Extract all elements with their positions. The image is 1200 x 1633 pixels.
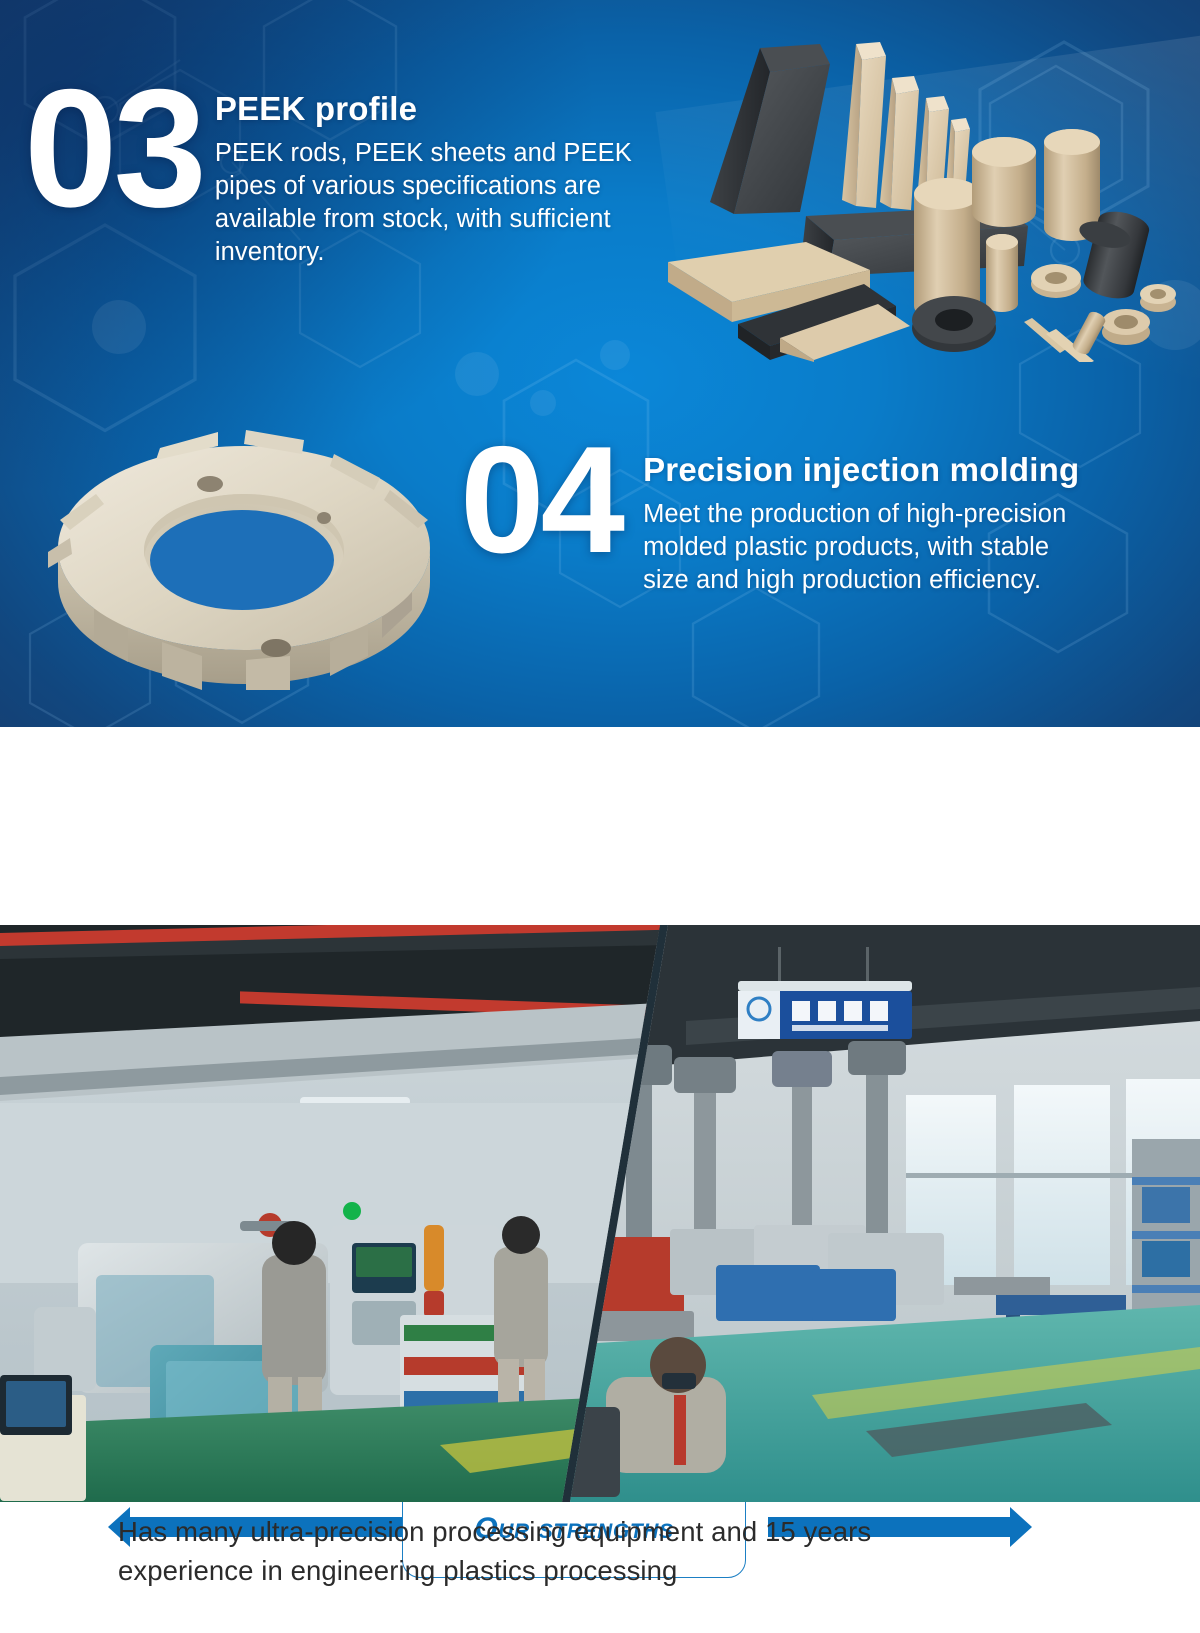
hero-section: 03 PEEK profile PEEK rods, PEEK sheets a… xyxy=(0,0,1200,727)
bokeh-dot xyxy=(530,390,556,416)
our-strengths-banner: Our strengths xyxy=(0,727,1200,925)
feature-description-03: PEEK rods, PEEK sheets and PEEK pipes of… xyxy=(215,137,635,269)
bokeh-dot xyxy=(455,352,499,396)
photo-cnc-workshop xyxy=(0,925,660,1502)
feature-title-03: PEEK profile xyxy=(215,90,635,128)
caption-line-2: experience in engineering plastics proce… xyxy=(118,1551,1098,1590)
ring-hole-right xyxy=(317,512,331,524)
feature-description-04: Meet the production of high-precision mo… xyxy=(643,498,1073,597)
peek-ring-component-image xyxy=(34,398,452,690)
black-block-large xyxy=(710,44,830,214)
feature-number-03: 03 xyxy=(24,78,203,219)
feature-number-04: 04 xyxy=(460,437,621,565)
bottom-caption: Has many ultra-precision processing equi… xyxy=(118,1512,1098,1590)
photo-mold-workshop xyxy=(566,925,1200,1502)
bokeh-dot xyxy=(92,300,146,354)
ring-hole-top xyxy=(197,476,223,492)
beige-thin-rods xyxy=(1024,309,1107,362)
feature-title-04: Precision injection molding xyxy=(643,451,1079,489)
peek-profiles-image xyxy=(628,16,1194,362)
caption-line-1: Has many ultra-precision processing equi… xyxy=(118,1512,1098,1551)
bokeh-dot xyxy=(600,340,630,370)
feature-block-04: 04 Precision injection molding Meet the … xyxy=(460,437,1079,597)
factory-photos xyxy=(0,925,1200,1502)
ring-hole-bottom xyxy=(261,639,291,657)
product-marketing-page: 03 PEEK profile PEEK rods, PEEK sheets a… xyxy=(0,0,1200,1633)
feature-block-03: 03 PEEK profile PEEK rods, PEEK sheets a… xyxy=(24,78,635,269)
